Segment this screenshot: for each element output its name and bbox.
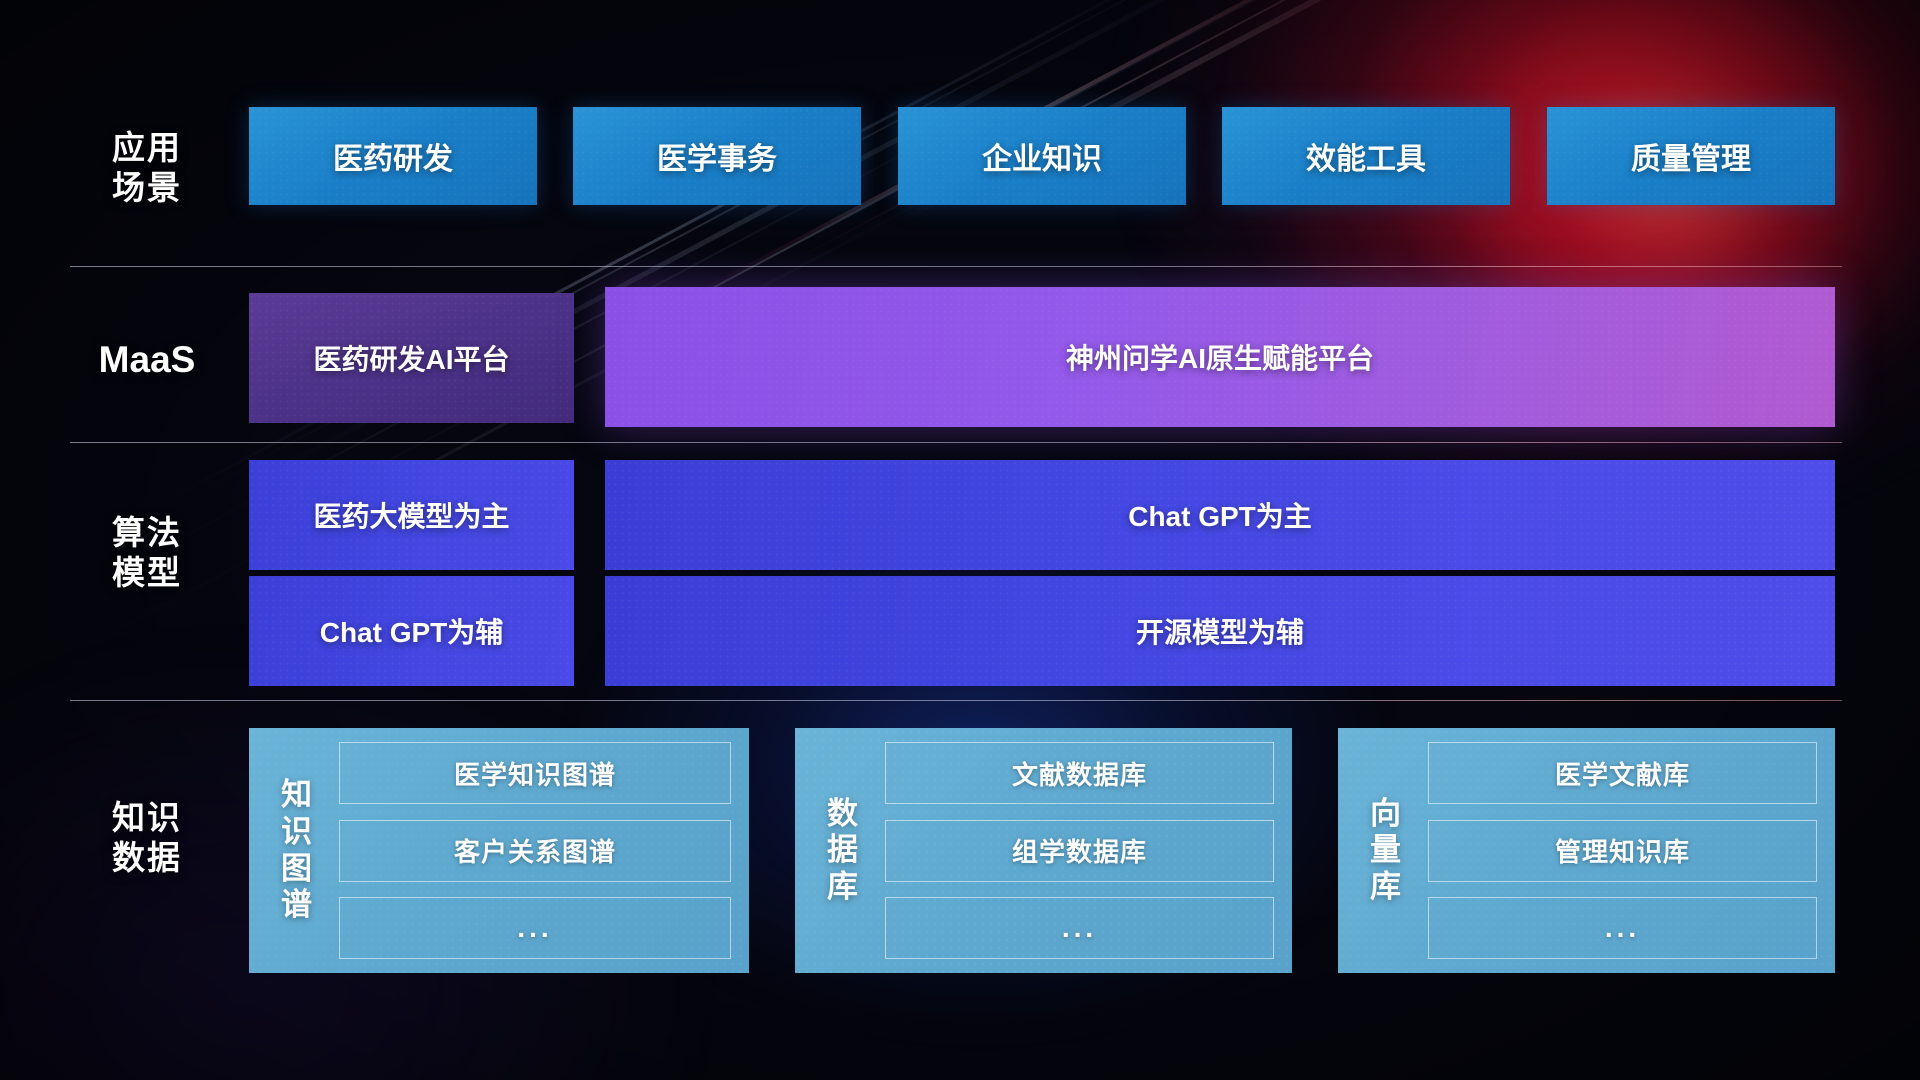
knowledge-panel-title: 数据库 [817, 796, 869, 906]
algo-card-label: 开源模型为辅 [1136, 611, 1304, 651]
app-card-label: 医药研发 [333, 134, 453, 178]
algo-card-chatgpt-secondary[interactable]: Chat GPT为辅 [249, 576, 574, 686]
divider-2 [70, 442, 1842, 443]
row-label-knowledge-data: 知识 数据 [82, 798, 212, 879]
algo-card-medicine-llm-primary[interactable]: 医药大模型为主 [249, 460, 574, 570]
knowledge-panel-title: 向量库 [1360, 796, 1412, 906]
app-card-label: 企业知识 [982, 134, 1102, 178]
knowledge-item[interactable]: 文献数据库 [885, 742, 1274, 804]
divider-3 [70, 700, 1842, 701]
divider-1 [70, 266, 1842, 267]
row-label-line: 数据 [82, 838, 212, 878]
app-card-label: 医学事务 [657, 134, 777, 178]
app-card-quality-management[interactable]: 质量管理 [1547, 107, 1835, 205]
app-card-label: 质量管理 [1631, 134, 1751, 178]
app-card-enterprise-knowledge[interactable]: 企业知识 [898, 107, 1186, 205]
maas-card-label: 神州问学AI原生赋能平台 [1066, 337, 1374, 377]
algo-card-label: Chat GPT为主 [1128, 495, 1312, 535]
row-label-line: 模型 [82, 553, 212, 593]
row-label-line: 场景 [82, 168, 212, 208]
row-label-algorithm-model: 算法 模型 [82, 513, 212, 594]
knowledge-panel-knowledge-graph[interactable]: 知识图谱 医学知识图谱 客户关系图谱 ... [249, 728, 749, 973]
knowledge-item[interactable]: 医学文献库 [1428, 742, 1817, 804]
knowledge-item-more[interactable]: ... [1428, 897, 1817, 959]
app-card-label: 效能工具 [1306, 134, 1426, 178]
algo-card-chatgpt-primary[interactable]: Chat GPT为主 [605, 460, 1835, 570]
knowledge-item[interactable]: 客户关系图谱 [339, 820, 731, 882]
knowledge-panel-vector-db[interactable]: 向量库 医学文献库 管理知识库 ... [1338, 728, 1835, 973]
knowledge-item-more[interactable]: ... [339, 897, 731, 959]
row-label-application-scenario: 应用 场景 [82, 128, 212, 209]
row-label-line: 算法 [82, 513, 212, 553]
knowledge-item[interactable]: 组学数据库 [885, 820, 1274, 882]
knowledge-panel-database[interactable]: 数据库 文献数据库 组学数据库 ... [795, 728, 1292, 973]
maas-card-label: 医药研发AI平台 [313, 338, 509, 378]
knowledge-item[interactable]: 医学知识图谱 [339, 742, 731, 804]
knowledge-item[interactable]: 管理知识库 [1428, 820, 1817, 882]
row-label-line: 知识 [82, 798, 212, 838]
algo-card-label: 医药大模型为主 [313, 495, 509, 535]
row-label-maas: MaaS [82, 337, 212, 382]
app-card-efficiency-tools[interactable]: 效能工具 [1222, 107, 1510, 205]
app-card-medicine-rd[interactable]: 医药研发 [249, 107, 537, 205]
maas-card-shenzhou-wenxue-platform[interactable]: 神州问学AI原生赋能平台 [605, 287, 1835, 427]
knowledge-panel-title: 知识图谱 [271, 777, 323, 923]
algo-card-label: Chat GPT为辅 [320, 611, 504, 651]
row-label-line: MaaS [82, 337, 212, 382]
knowledge-item-more[interactable]: ... [885, 897, 1274, 959]
app-card-medical-affairs[interactable]: 医学事务 [573, 107, 861, 205]
maas-card-medicine-ai-platform[interactable]: 医药研发AI平台 [249, 293, 574, 423]
algo-card-opensource-secondary[interactable]: 开源模型为辅 [605, 576, 1835, 686]
row-label-line: 应用 [82, 128, 212, 168]
